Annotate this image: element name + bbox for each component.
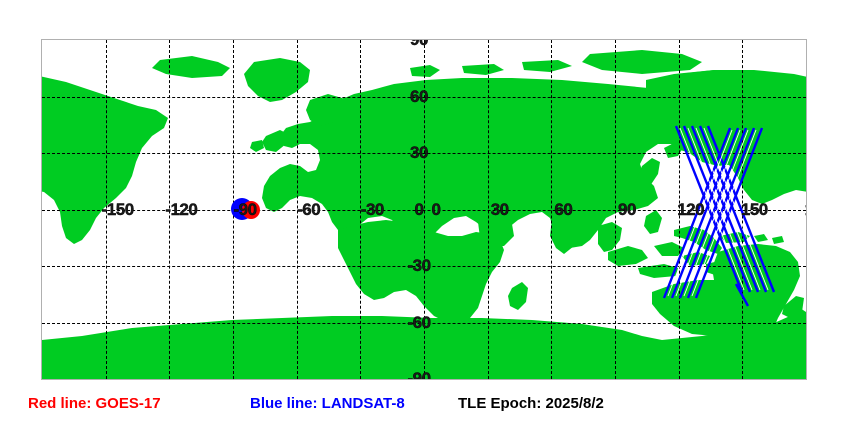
legend: Red line: GOES-17 Blue line: LANDSAT-8 T…: [0, 395, 850, 421]
legend-tle-epoch-label: TLE Epoch: 2025/8/2: [458, 395, 604, 412]
longitude-label: 60: [554, 200, 572, 220]
world-map-frame: 9060300-30-60-90-300306090120150180-150-…: [41, 39, 807, 380]
longitude-label: 120: [677, 200, 704, 220]
legend-goes17-label: Red line: GOES-17: [28, 395, 161, 412]
longitude-label: 150: [741, 200, 768, 220]
map-plot-area: 9060300-30-60-90-300306090120150180-150-…: [42, 40, 806, 379]
longitude-label: 90: [618, 200, 636, 220]
latitude-label: 30: [410, 143, 428, 163]
legend-landsat8-label: Blue line: LANDSAT-8: [250, 395, 405, 412]
latitude-label: -90: [407, 369, 430, 380]
longitude-label: 0: [432, 200, 441, 220]
longitude-label: 180: [805, 200, 807, 220]
latitude-label: 60: [410, 87, 428, 107]
longitude-label: -150: [102, 200, 134, 220]
latitude-label: -30: [407, 256, 430, 276]
longitude-label: -60: [297, 200, 320, 220]
latitude-label: 0: [415, 200, 424, 220]
longitude-label: 30: [491, 200, 509, 220]
longitude-label: -90: [233, 200, 256, 220]
latitude-label: -60: [407, 313, 430, 333]
latitude-label: 90: [410, 39, 428, 50]
longitude-label: -30: [361, 200, 384, 220]
longitude-label: -120: [165, 200, 197, 220]
